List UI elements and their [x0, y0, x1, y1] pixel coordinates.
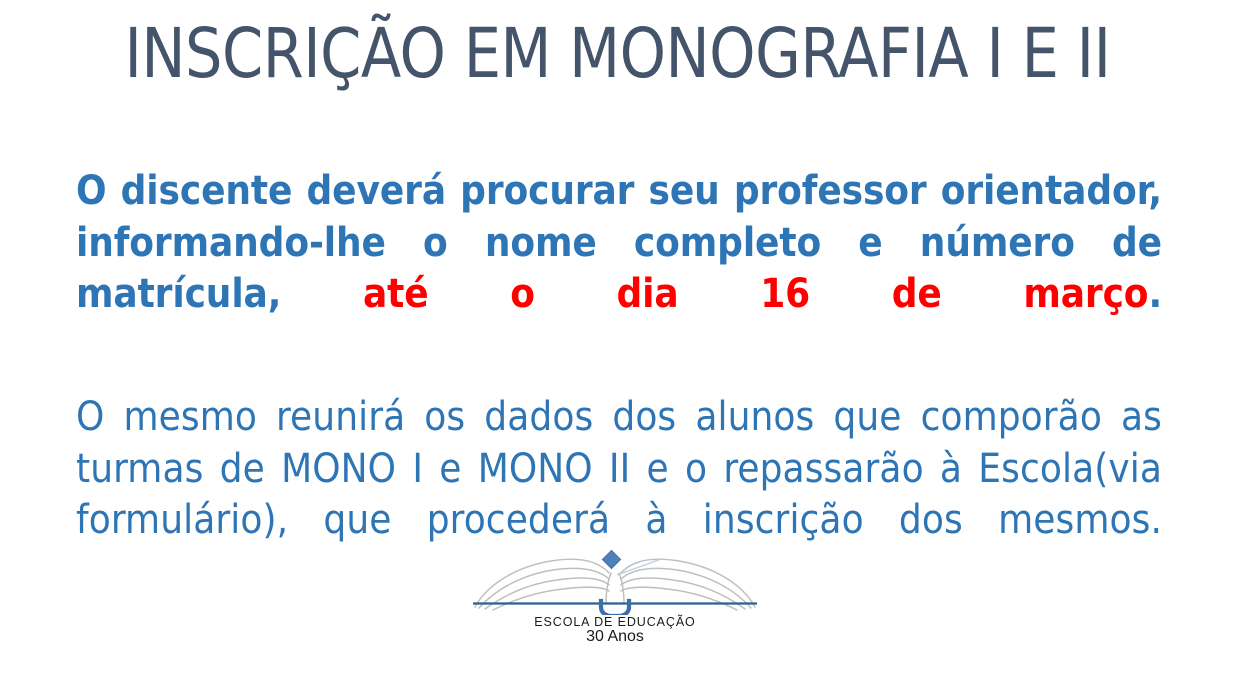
- page-title: INSCRIÇÃO EM MONOGRAFIA I E II: [59, 8, 1175, 100]
- slide-canvas: INSCRIÇÃO EM MONOGRAFIA I E II O discent…: [0, 0, 1235, 677]
- diamond-accent-icon: [602, 550, 620, 568]
- paragraph-primary-trailing-period: .: [1148, 271, 1162, 317]
- open-book-icon: [465, 545, 765, 615]
- logo-anniversary-text: 30 Anos: [465, 628, 765, 645]
- body-text-block: O discente deverá procurar seu professor…: [76, 166, 1162, 598]
- escola-de-educacao-logo: ESCOLA DE EDUCAÇÃO 30 Anos: [465, 545, 765, 670]
- deadline-emphasis-text: até o dia 16 de março: [363, 271, 1148, 317]
- logo-text-group: ESCOLA DE EDUCAÇÃO 30 Anos: [465, 615, 765, 645]
- paragraph-primary: O discente deverá procurar seu professor…: [76, 166, 1162, 372]
- logo-name-text: ESCOLA DE EDUCAÇÃO: [465, 615, 765, 629]
